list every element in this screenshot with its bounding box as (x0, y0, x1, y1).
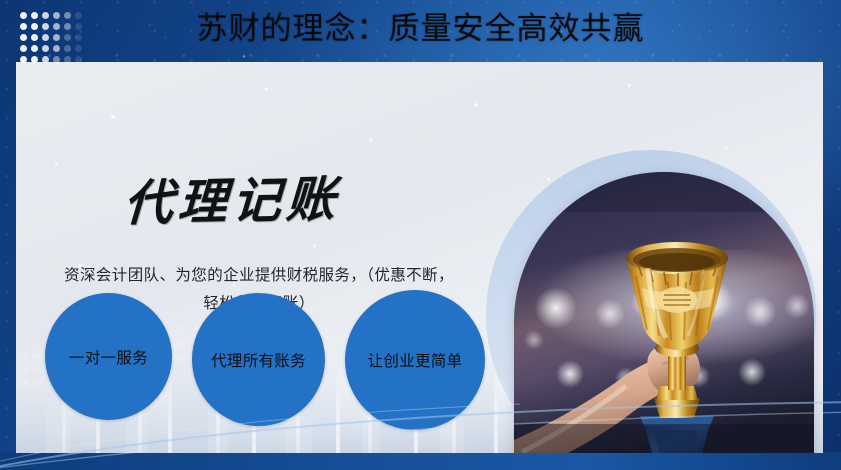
badge-label: 让创业更简单 (368, 349, 463, 371)
badge-group: 一对一服务 代理所有账务 让创业更简单 (16, 62, 823, 453)
content-panel: 代理记账 资深会计团队、为您的企业提供财税服务，（优惠不断，轻松创业记账） 一对… (16, 62, 823, 453)
badge-label: 一对一服务 (69, 346, 148, 368)
slide-header: 苏财的理念：质量安全高效共赢 (0, 0, 841, 62)
bottom-band (0, 452, 841, 470)
badge-one-to-one-service[interactable]: 一对一服务 (45, 293, 172, 420)
page-title: 苏财的理念：质量安全高效共赢 (0, 0, 841, 58)
badge-all-accounting[interactable]: 代理所有账务 (192, 293, 325, 426)
badge-label: 代理所有账务 (211, 349, 306, 371)
badge-easier-startup[interactable]: 让创业更简单 (345, 290, 485, 430)
slide-root: 苏财的理念：质量安全高效共赢 (0, 0, 841, 470)
